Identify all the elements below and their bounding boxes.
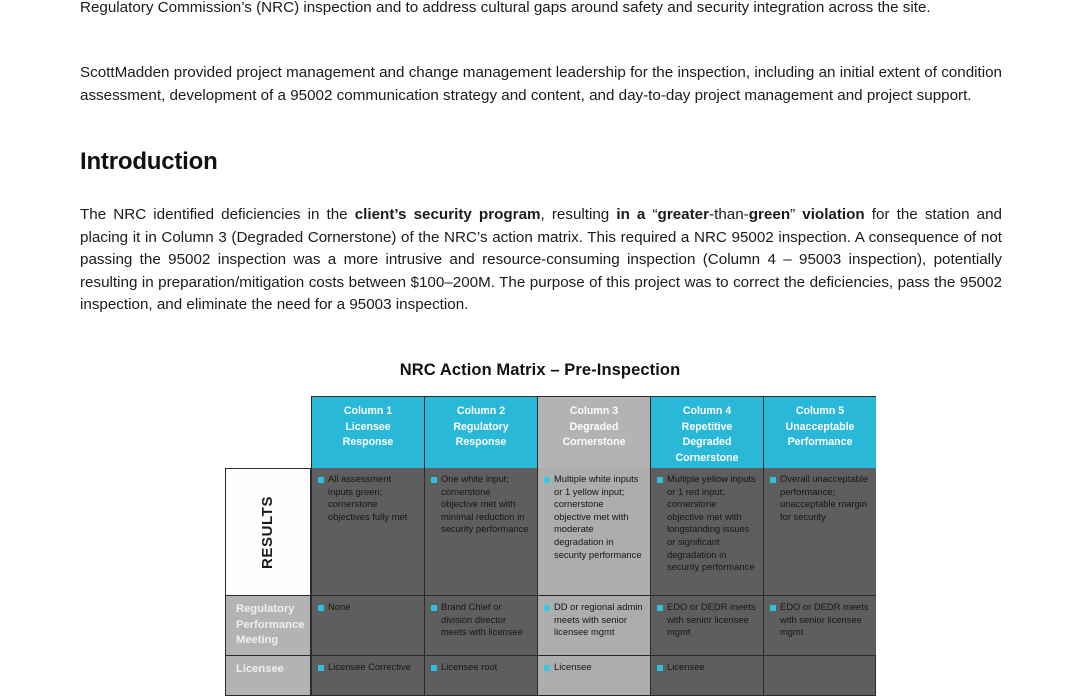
bullet-square-icon	[431, 477, 437, 483]
bullet-square-icon	[544, 665, 550, 671]
figure-title: NRC Action Matrix – Pre-Inspection	[0, 361, 1080, 380]
table-cell-results-col2: One white input; cornerstone objective m…	[424, 468, 537, 596]
bullet-item: Licensee	[657, 661, 756, 674]
row-label-licensee: Licensee	[225, 656, 311, 696]
bullet-square-icon	[657, 665, 663, 671]
column-header-line: Column 1	[312, 404, 424, 420]
bullet-item: One white input; cornerstone objective m…	[431, 473, 530, 536]
column-header-line: Column 2	[425, 404, 537, 420]
column-header-line: Column 3	[538, 404, 650, 420]
paragraph-text: ScottMadden provided project management …	[80, 64, 1002, 104]
column-header-line: Performance	[764, 435, 876, 451]
bullet-square-icon	[770, 477, 776, 483]
bullet-square-icon	[318, 665, 324, 671]
text-run-bold-violation: violation	[802, 206, 864, 223]
table-cell-licensee-col3: Licensee	[537, 656, 650, 696]
bullet-text: Multiple yellow inputs or 1 red input; c…	[667, 473, 756, 574]
row-label-regulatory-performance-meeting: Regulatory Performance Meeting	[225, 596, 311, 656]
paragraph-intro-continuation: Regulatory Commission’s (NRC) inspection…	[80, 0, 1002, 20]
column-header-line: Degraded	[651, 435, 763, 451]
bullet-square-icon	[544, 605, 550, 611]
bullet-item: Brand Chief or division director meets w…	[431, 601, 530, 639]
text-run-bold-green: green	[749, 206, 790, 223]
column-header-col1[interactable]: Column 1LicenseeResponse	[311, 396, 424, 468]
paragraph-text: Regulatory Commission’s (NRC) inspection…	[80, 0, 931, 16]
bullet-item: None	[318, 601, 417, 614]
column-header-line: Response	[425, 435, 537, 451]
bullet-text: Licensee Corrective	[328, 661, 417, 674]
column-header-col2[interactable]: Column 2RegulatoryResponse	[424, 396, 537, 468]
bullet-square-icon	[431, 605, 437, 611]
bullet-square-icon	[431, 665, 437, 671]
column-header-col4[interactable]: Column 4RepetitiveDegradedCornerstone	[650, 396, 763, 468]
column-header-line: Column 5	[764, 404, 876, 420]
table-corner-cell	[225, 396, 311, 468]
text-run: , resulting	[541, 206, 617, 223]
bullet-square-icon	[770, 605, 776, 611]
column-header-col5[interactable]: Column 5UnacceptablePerformance	[763, 396, 876, 468]
bullet-item: Overall unacceptable performance; unacce…	[770, 473, 869, 523]
text-run: The NRC identified deficiencies in the	[80, 206, 355, 223]
bullet-text: EDO or DEDR meets with senior licensee m…	[667, 601, 756, 639]
bullet-item: Multiple white inputs or 1 yellow input;…	[544, 473, 643, 561]
bullet-text: EDO or DEDR meets with senior licensee m…	[780, 601, 869, 639]
table-cell-results-col1: All assessment inputs green; cornerstone…	[311, 468, 424, 596]
row-label-results: RESULTS	[225, 468, 311, 596]
column-header-col3[interactable]: Column 3DegradedCornerstone	[537, 396, 650, 468]
column-header-line: Response	[312, 435, 424, 451]
bullet-item: All assessment inputs green; cornerstone…	[318, 473, 417, 523]
table-cell-results-col4: Multiple yellow inputs or 1 red input; c…	[650, 468, 763, 596]
bullet-text: DD or regional admin meets with senior l…	[554, 601, 643, 639]
bullet-item: Licensee root	[431, 661, 530, 674]
bullet-item: EDO or DEDR meets with senior licensee m…	[657, 601, 756, 639]
column-header-line: Regulatory	[425, 420, 537, 436]
column-header-line: Licensee	[312, 420, 424, 436]
section-heading-introduction: Introduction	[80, 148, 218, 176]
table-cell-licensee-col2: Licensee root	[424, 656, 537, 696]
bullet-square-icon	[318, 477, 324, 483]
text-run-bold-client-security-program: client’s security program	[355, 206, 541, 223]
text-run: ”	[790, 206, 802, 223]
table-cell-licensee-col1: Licensee Corrective	[311, 656, 424, 696]
document-page: Regulatory Commission’s (NRC) inspection…	[0, 0, 1080, 675]
paragraph-nrc-deficiencies: The NRC identified deficiencies in the c…	[80, 204, 1002, 317]
bullet-text: Multiple white inputs or 1 yellow input;…	[554, 473, 643, 561]
bullet-text: All assessment inputs green; cornerstone…	[328, 473, 417, 523]
bullet-text: None	[328, 601, 417, 614]
column-header-line: Cornerstone	[538, 435, 650, 451]
column-header-line: Repetitive	[651, 420, 763, 436]
table-cell-results-col3: Multiple white inputs or 1 yellow input;…	[537, 468, 650, 596]
bullet-item: DD or regional admin meets with senior l…	[544, 601, 643, 639]
bullet-item: Multiple yellow inputs or 1 red input; c…	[657, 473, 756, 574]
paragraph-scottmadden: ScottMadden provided project management …	[80, 62, 1002, 107]
bullet-text: Licensee root	[441, 661, 530, 674]
table-cell-regulatory-performance-meeting-col4: EDO or DEDR meets with senior licensee m…	[650, 596, 763, 656]
column-header-line: Degraded	[538, 420, 650, 436]
table-cell-results-col5: Overall unacceptable performance; unacce…	[763, 468, 876, 596]
bullet-square-icon	[657, 605, 663, 611]
table-cell-licensee-col4: Licensee	[650, 656, 763, 696]
bullet-item: Licensee	[544, 661, 643, 674]
column-header-line: Unacceptable	[764, 420, 876, 436]
bullet-item: EDO or DEDR meets with senior licensee m…	[770, 601, 869, 639]
nrc-action-matrix-table: Column 1LicenseeResponseColumn 2Regulato…	[225, 396, 882, 675]
column-header-line: Cornerstone	[651, 451, 763, 467]
bullet-square-icon	[544, 477, 550, 483]
text-run: -than-	[709, 206, 749, 223]
table-cell-regulatory-performance-meeting-col2: Brand Chief or division director meets w…	[424, 596, 537, 656]
table-cell-regulatory-performance-meeting-col3: DD or regional admin meets with senior l…	[537, 596, 650, 656]
bullet-text: Licensee	[667, 661, 756, 674]
table-cell-regulatory-performance-meeting-col1: None	[311, 596, 424, 656]
bullet-text: One white input; cornerstone objective m…	[441, 473, 530, 536]
row-label-text: RESULTS	[260, 495, 277, 568]
text-run-bold-greater: greater	[658, 206, 710, 223]
table-cell-regulatory-performance-meeting-col5: EDO or DEDR meets with senior licensee m…	[763, 596, 876, 656]
bullet-square-icon	[318, 605, 324, 611]
bullet-text: Brand Chief or division director meets w…	[441, 601, 530, 639]
bullet-text: Overall unacceptable performance; unacce…	[780, 473, 869, 523]
text-run: “	[645, 206, 657, 223]
bullet-text: Licensee	[554, 661, 643, 674]
bullet-item: Licensee Corrective	[318, 661, 417, 674]
bullet-square-icon	[657, 477, 663, 483]
text-run-bold-in-a: in a	[616, 206, 645, 223]
table-cell-licensee-col5	[763, 656, 876, 696]
column-header-line: Column 4	[651, 404, 763, 420]
